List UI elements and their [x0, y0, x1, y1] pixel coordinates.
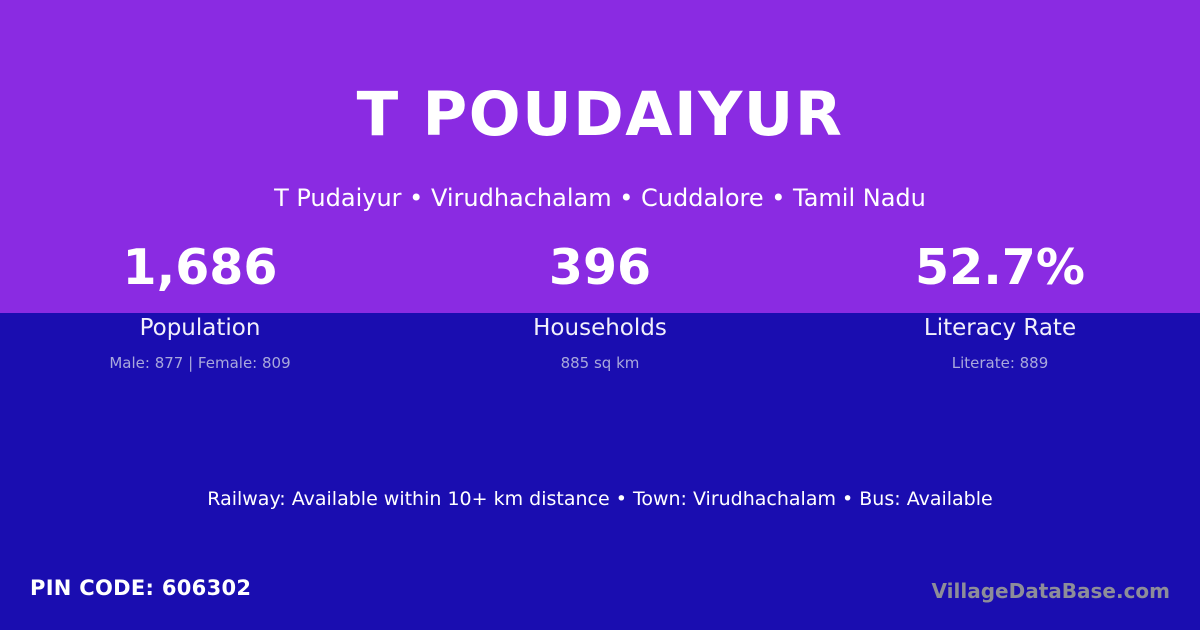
stat-label-population: Population — [0, 317, 400, 340]
stat-sub-households: 885 sq km — [400, 356, 800, 371]
stat-sub-literacy-rate: Literate: 889 — [800, 356, 1200, 371]
stat-block-households: 396 Households 885 sq km — [400, 243, 800, 383]
page-title: T POUDAIYUR — [0, 84, 1200, 145]
pin-code-label: PIN CODE: 606302 — [30, 578, 251, 599]
site-watermark: VillageDataBase.com — [932, 581, 1170, 601]
stat-value-households: 396 — [400, 243, 800, 292]
location-breadcrumb: T Pudaiyur • Virudhachalam • Cuddalore •… — [0, 183, 1200, 213]
amenities-summary: Railway: Available within 10+ km distanc… — [0, 487, 1200, 512]
stat-value-literacy-rate: 52.7% — [800, 243, 1200, 292]
stat-label-literacy-rate: Literacy Rate — [800, 317, 1200, 340]
stat-label-households: Households — [400, 317, 800, 340]
stat-value-population: 1,686 — [0, 243, 400, 292]
stat-sub-population: Male: 877 | Female: 809 — [0, 356, 400, 371]
village-info-card: T POUDAIYUR T Pudaiyur • Virudhachalam •… — [0, 0, 1200, 630]
stat-block-literacy-rate: 52.7% Literacy Rate Literate: 889 — [800, 243, 1200, 383]
footer: PIN CODE: 606302 VillageDataBase.com — [0, 575, 1200, 630]
stat-block-population: 1,686 Population Male: 877 | Female: 809 — [0, 243, 400, 383]
stats-row: 1,686 Population Male: 877 | Female: 809… — [0, 243, 1200, 383]
